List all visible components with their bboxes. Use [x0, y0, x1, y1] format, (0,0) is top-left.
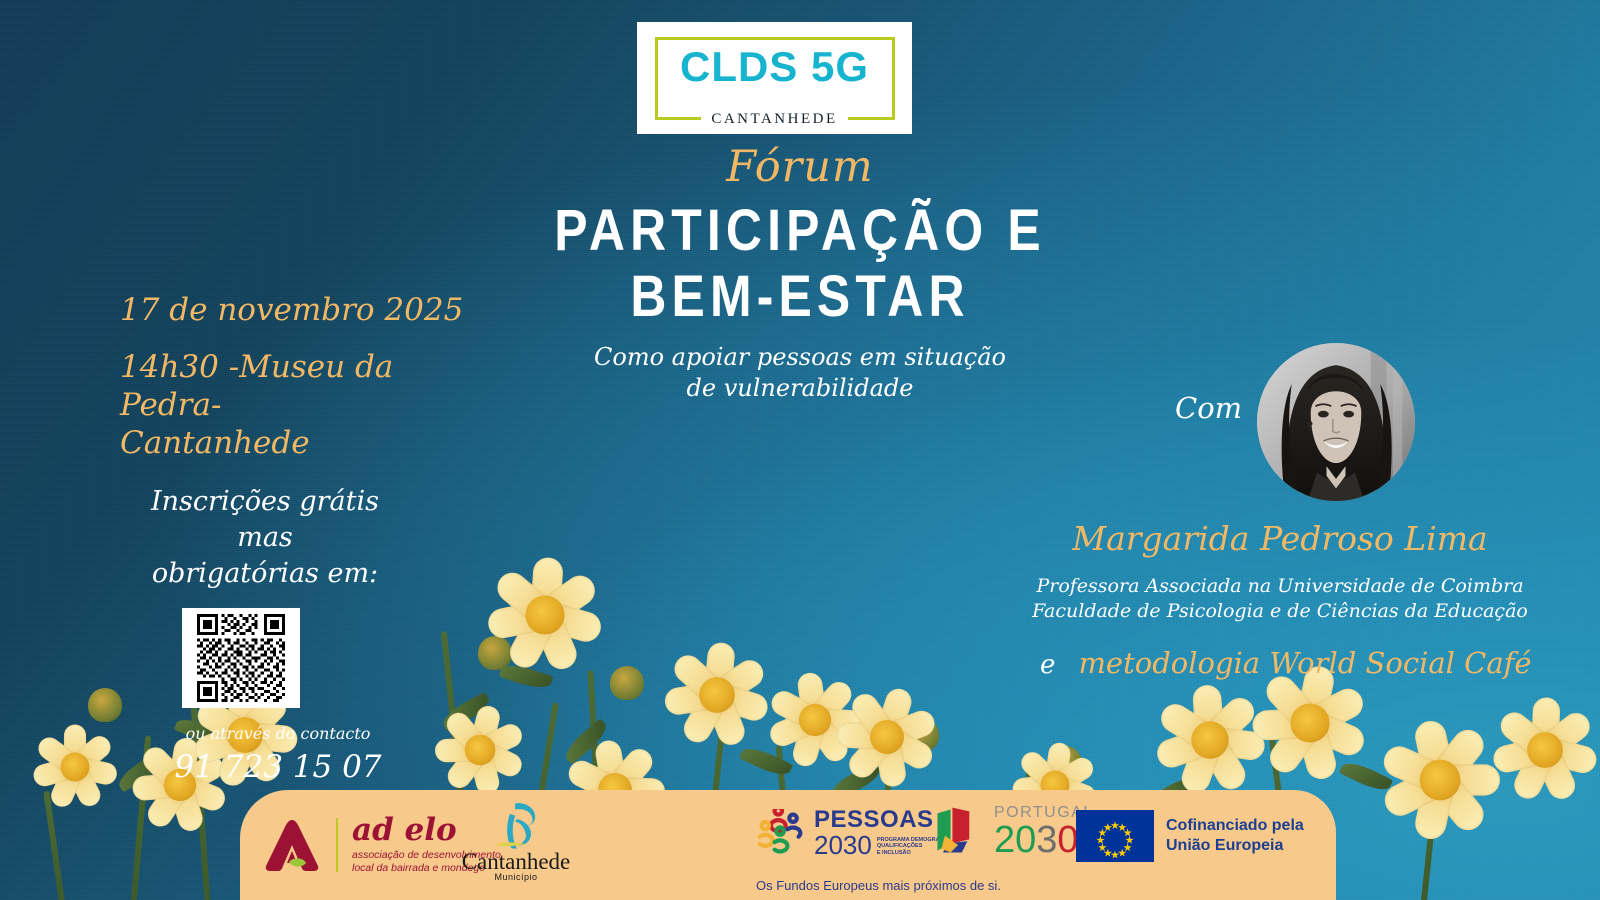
event-title-line-1: PARTICIPAÇÃO E [542, 198, 1058, 264]
speaker-name: Margarida Pedroso Lima [1020, 519, 1540, 558]
eu-funding-line-2: União Europeia [1166, 836, 1304, 856]
pessoas-year: 2030 [814, 832, 872, 858]
qr-code[interactable] [182, 608, 300, 708]
event-subtitle-line-1: Como apoiar pessoas em situação [500, 342, 1100, 373]
sponsor-logos: ad elo associação de desenvolvimento loc… [240, 790, 1336, 900]
event-eyebrow: Fórum [500, 142, 1100, 192]
contact-phone[interactable]: 91 723 15 07 [138, 749, 418, 785]
title-block: Fórum PARTICIPAÇÃO E BEM-ESTAR Como apoi… [500, 142, 1100, 404]
event-date: 17 de novembro 2025 [120, 290, 490, 330]
eu-flag-icon [1076, 810, 1154, 862]
methodology-conjunction: e [1040, 650, 1055, 680]
portugal-year-3: 3 [1036, 819, 1057, 861]
portugal2030-logo: PORTUGAL 2030 [930, 802, 1094, 860]
event-location-line-2: Cantanhede [120, 424, 490, 462]
pessoas2030-logo: PESSOAS 2030 PROGRAMA DEMOGRAFIA, QUALIF… [756, 808, 950, 858]
registration-note-line-2: obrigatórias em: [120, 556, 410, 592]
registration-note-line-1: Inscrições grátis mas [120, 484, 410, 556]
eu-funding-logo: Cofinanciado pela União Europeia [1076, 810, 1304, 862]
event-subtitle-line-2: de vulnerabilidade [500, 373, 1100, 404]
event-title: PARTICIPAÇÃO E BEM-ESTAR [542, 198, 1058, 330]
eu-funding-text: Cofinanciado pela União Europeia [1166, 816, 1304, 856]
event-subtitle: Como apoiar pessoas em situação de vulne… [500, 342, 1100, 404]
speaker-avatar [1257, 343, 1415, 501]
speaker-bio-line-1: Professora Associada na Universidade de … [1020, 574, 1540, 599]
speaker-bio: Professora Associada na Universidade de … [1020, 574, 1540, 624]
portugal-ribbon-icon [930, 802, 988, 860]
event-title-line-2: BEM-ESTAR [542, 264, 1058, 330]
adelo-divider [336, 818, 338, 872]
speaker-photo [1257, 343, 1415, 501]
methodology-row: e metodologia World Social Café [1020, 646, 1540, 686]
clds-logo: CLDS 5G CANTANHEDE [637, 22, 912, 134]
clds-logo-subtitle-wrap: CANTANHEDE [655, 111, 895, 128]
adelo-mark-icon [262, 818, 322, 872]
clds-logo-subtitle: CANTANHEDE [701, 111, 847, 128]
cantanhede-name: Cantanhede [456, 850, 576, 874]
pessoas-figures-icon [756, 809, 806, 857]
cantanhede-mark-icon [477, 800, 555, 852]
cantanhede-logo: Cantanhede Município [456, 800, 576, 882]
event-details-column: 17 de novembro 2025 14h30 -Museu da Pedr… [120, 290, 490, 785]
clds-logo-title: CLDS 5G [680, 44, 869, 90]
qr-code-image [188, 614, 294, 702]
portugal-year-20: 20 [994, 819, 1036, 861]
eu-funding-line-1: Cofinanciado pela [1166, 816, 1304, 836]
speaker-header: Com [1020, 355, 1540, 515]
clds-logo-frame: CLDS 5G CANTANHEDE [655, 37, 895, 120]
registration-note: Inscrições grátis mas obrigatórias em: [120, 484, 410, 592]
event-location: 14h30 -Museu da Pedra- Cantanhede [120, 348, 490, 462]
event-poster: CLDS 5G CANTANHEDE Fórum PARTICIPAÇÃO E … [0, 0, 1600, 900]
with-label: Com [1175, 391, 1242, 425]
contact-intro: ou através do contacto [138, 724, 418, 743]
speaker-column: Com [1020, 355, 1540, 686]
eu-funds-note: Os Fundos Europeus mais próximos de si. [756, 878, 1001, 893]
event-location-line-1: 14h30 -Museu da Pedra- [120, 348, 490, 424]
speaker-bio-line-2: Faculdade de Psicologia e de Ciências da… [1020, 599, 1540, 624]
sponsors-footer: ad elo associação de desenvolvimento loc… [240, 790, 1336, 900]
methodology-label: metodologia World Social Café [1070, 646, 1540, 680]
